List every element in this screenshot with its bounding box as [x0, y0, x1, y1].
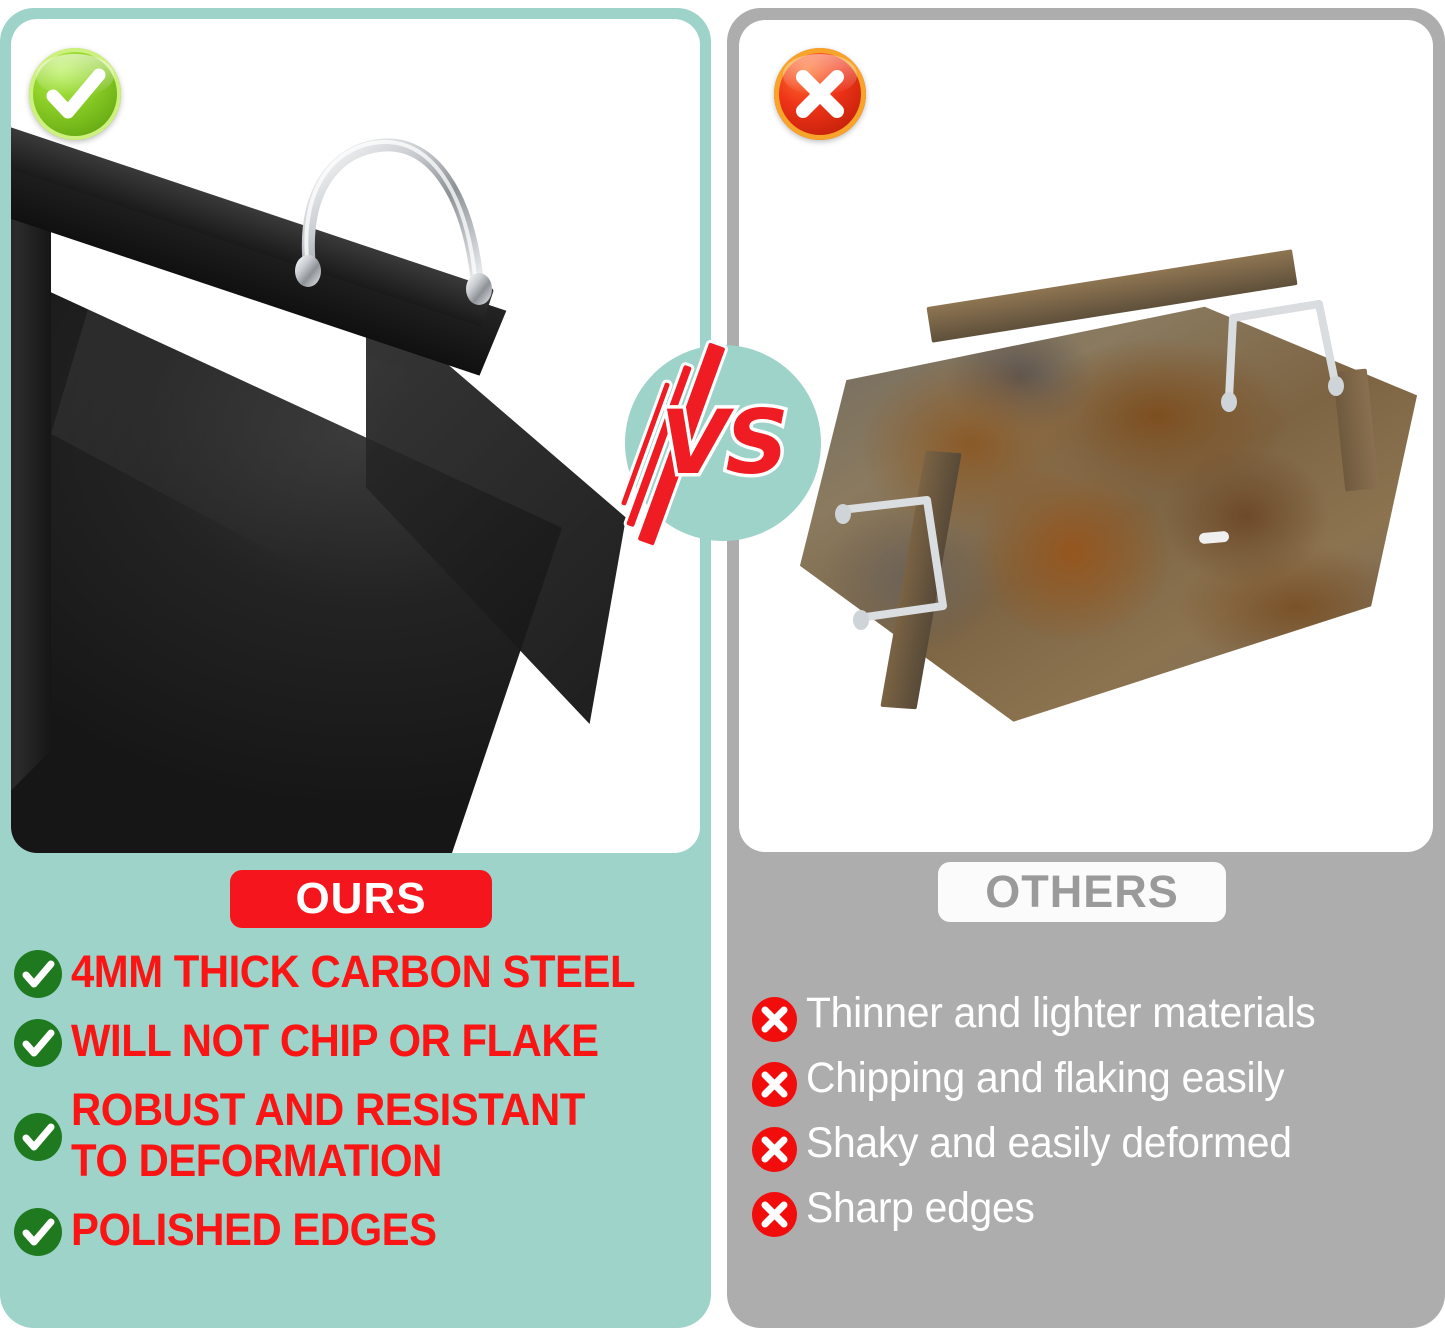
ours-panel: OURS 4MM THICK CARBON STEEL WILL NOT CHI… [0, 8, 711, 1328]
others-feature-label: Sharp edges [806, 1185, 1410, 1232]
rusty-griddle-handle-top-icon [1199, 278, 1379, 418]
ours-feature-label: 4MM THICK CARBON STEEL [71, 946, 660, 997]
others-feature-row-4: Sharp edges [752, 1185, 1442, 1237]
griddle-wire-handle-icon [281, 129, 521, 389]
check-icon [14, 950, 62, 998]
black-griddle-illustration [11, 79, 700, 853]
vs-badge: VS [625, 345, 821, 541]
vs-label: VS [625, 345, 821, 541]
ours-product-card [11, 19, 700, 853]
check-icon [14, 1019, 62, 1067]
ours-product-image [11, 19, 700, 853]
others-feature-row-3: Shaky and easily deformed [752, 1120, 1442, 1172]
others-feature-label: Shaky and easily deformed [806, 1120, 1410, 1167]
ours-title-label: OURS [295, 874, 426, 924]
ours-feature-row-2: WILL NOT CHIP OR FLAKE [14, 1015, 704, 1067]
others-title-label: OTHERS [985, 866, 1179, 918]
others-product-card [739, 20, 1433, 852]
red-x-badge-icon [774, 48, 866, 140]
others-feature-list: Thinner and lighter materials Chipping a… [752, 990, 1442, 1250]
rusty-griddle-handle-bottom-icon [807, 478, 997, 638]
x-icon [752, 1127, 797, 1172]
check-icon [14, 1113, 62, 1161]
others-feature-label: Thinner and lighter materials [806, 990, 1410, 1037]
ours-feature-row-4: POLISHED EDGES [14, 1204, 704, 1256]
ours-feature-row-1: 4MM THICK CARBON STEEL [14, 946, 704, 998]
ours-title-chip: OURS [230, 870, 492, 928]
others-product-image [739, 20, 1433, 852]
ours-feature-label: ROBUST AND RESISTANT TO DEFORMATION [71, 1084, 660, 1187]
griddle-left-wall [11, 187, 51, 827]
ours-feature-label: POLISHED EDGES [71, 1204, 660, 1255]
others-title-chip: OTHERS [938, 862, 1226, 922]
x-icon [752, 997, 797, 1042]
others-panel: OTHERS Thinner and lighter materials Chi… [727, 8, 1445, 1328]
ours-feature-row-3: ROBUST AND RESISTANT TO DEFORMATION [14, 1084, 704, 1187]
check-icon [14, 1208, 62, 1256]
ours-feature-list: 4MM THICK CARBON STEEL WILL NOT CHIP OR … [14, 946, 704, 1273]
others-feature-row-1: Thinner and lighter materials [752, 990, 1442, 1042]
comparison-infographic: OURS 4MM THICK CARBON STEEL WILL NOT CHI… [0, 0, 1445, 1337]
x-icon [752, 1192, 797, 1237]
others-feature-row-2: Chipping and flaking easily [752, 1055, 1442, 1107]
x-icon [752, 1062, 797, 1107]
others-feature-label: Chipping and flaking easily [806, 1055, 1410, 1102]
rusty-griddle-illustration [799, 270, 1433, 740]
green-check-badge-icon [29, 48, 121, 140]
ours-feature-label: WILL NOT CHIP OR FLAKE [71, 1015, 660, 1066]
